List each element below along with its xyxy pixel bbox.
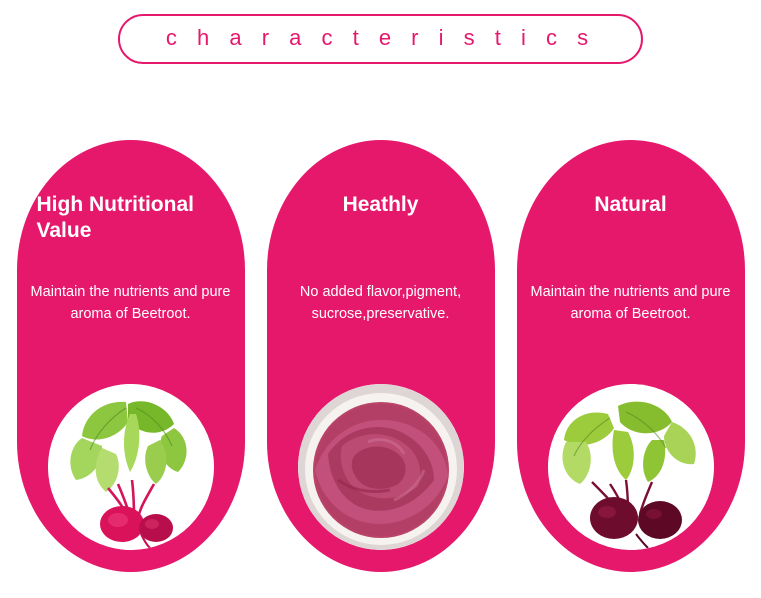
beetroot-with-leaves-photo <box>48 384 214 550</box>
characteristic-card: High Nutritional Value Maintain the nutr… <box>17 140 245 572</box>
card-title: Heathly <box>267 192 495 218</box>
two-beetroots-photo <box>548 384 714 550</box>
header-pill: c h a r a c t e r i s t i c s <box>118 14 643 64</box>
card-title: Natural <box>517 192 745 218</box>
characteristics-card-list: High Nutritional Value Maintain the nutr… <box>0 140 761 572</box>
two-beetroots-icon <box>548 384 714 550</box>
beetroot-with-leaves-icon <box>48 384 214 550</box>
card-description: Maintain the nutrients and pure aroma of… <box>517 282 745 326</box>
card-description: No added flavor,pigment, sucrose,preserv… <box>267 282 495 326</box>
card-image <box>48 384 214 550</box>
beetroot-powder-bowl-photo <box>298 384 464 550</box>
page-title: c h a r a c t e r i s t i c s <box>166 25 595 51</box>
card-description: Maintain the nutrients and pure aroma of… <box>17 282 245 326</box>
powder-bowl-icon <box>298 384 464 550</box>
characteristic-card: Heathly No added flavor,pigment, sucrose… <box>267 140 495 572</box>
card-image <box>298 384 464 550</box>
card-title: High Nutritional Value <box>17 192 245 245</box>
characteristic-card: Natural Maintain the nutrients and pure … <box>517 140 745 572</box>
header-banner: c h a r a c t e r i s t i c s <box>0 14 761 64</box>
card-image <box>548 384 714 550</box>
